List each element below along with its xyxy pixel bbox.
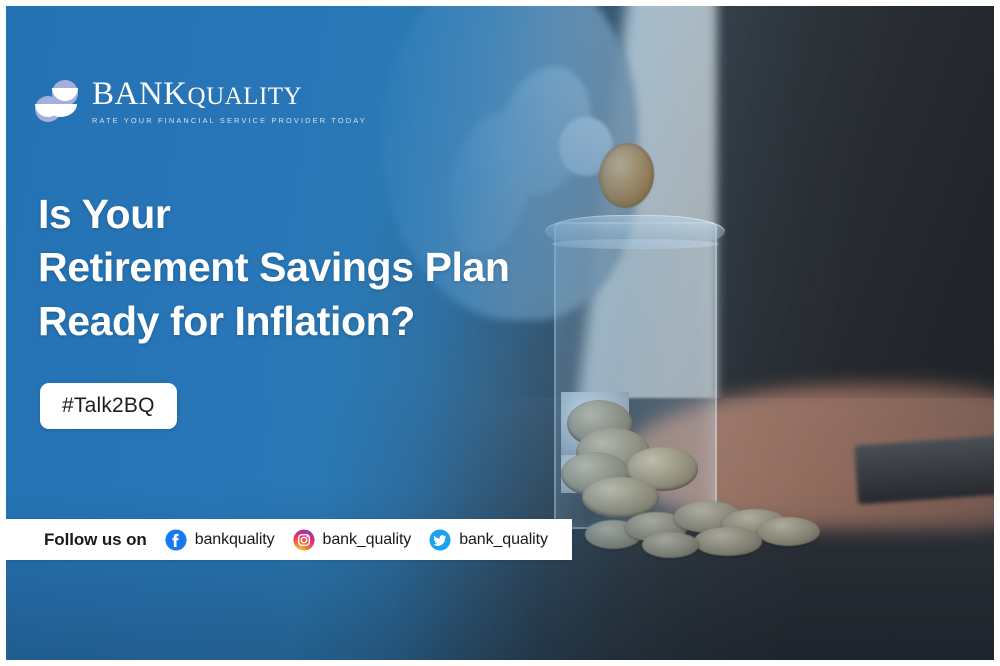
headline-line-2: Retirement Savings Plan <box>38 241 510 294</box>
headline-line-1: Is Your <box>38 188 510 241</box>
instagram-handle[interactable]: bank_quality <box>323 531 412 549</box>
headline-line-3: Ready for Inflation? <box>38 295 510 348</box>
wordmark-quality: QUALITY <box>188 83 303 110</box>
instagram-icon[interactable] <box>293 529 315 551</box>
follow-us-label: Follow us on <box>44 530 147 550</box>
social-account-instagram[interactable]: bank_quality <box>293 529 412 551</box>
wordmark-bank: BANK <box>92 76 188 112</box>
facebook-icon[interactable] <box>165 529 187 551</box>
social-account-twitter[interactable]: bank_quality <box>429 529 548 551</box>
hashtag-badge[interactable]: #Talk2BQ <box>40 383 177 429</box>
headline: Is Your Retirement Savings Plan Ready fo… <box>38 188 510 348</box>
social-footer-bar: Follow us on bankquality <box>6 519 572 560</box>
brand-logo: BANKQUALITY RATE YOUR FINANCIAL SERVICE … <box>34 78 367 125</box>
twitter-icon[interactable] <box>429 529 451 551</box>
brand-tagline: RATE YOUR FINANCIAL SERVICE PROVIDER TOD… <box>92 116 367 125</box>
banner-content: BANKQUALITY RATE YOUR FINANCIAL SERVICE … <box>6 6 994 660</box>
facebook-handle[interactable]: bankquality <box>195 531 275 549</box>
logo-text: BANKQUALITY RATE YOUR FINANCIAL SERVICE … <box>92 78 367 125</box>
banner-frame: BANKQUALITY RATE YOUR FINANCIAL SERVICE … <box>6 6 994 660</box>
wordmark: BANKQUALITY <box>92 78 367 111</box>
promotional-banner: BANKQUALITY RATE YOUR FINANCIAL SERVICE … <box>0 0 1000 666</box>
overlapping-circles-icon <box>34 79 82 125</box>
social-account-facebook[interactable]: bankquality <box>165 529 275 551</box>
twitter-handle[interactable]: bank_quality <box>459 531 548 549</box>
